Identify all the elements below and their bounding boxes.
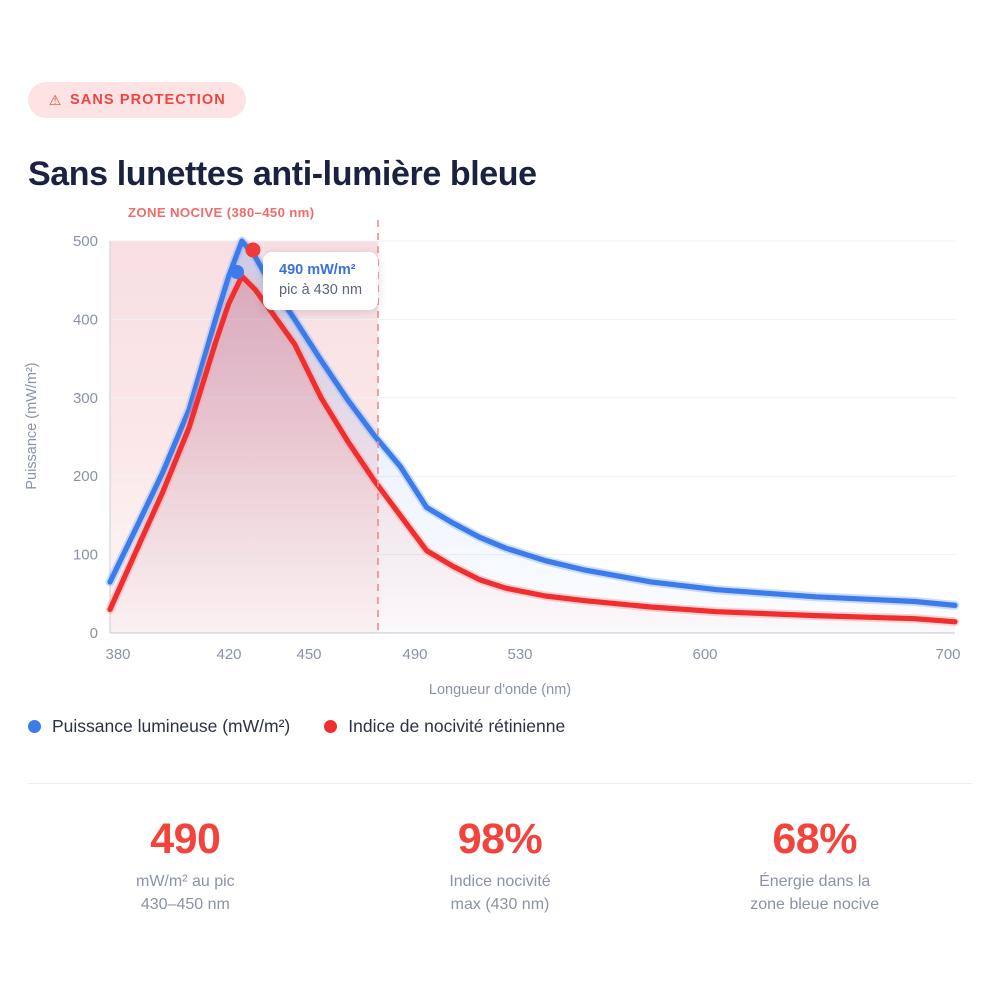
- legend-label-puissance: Puissance lumineuse (mW/m²): [52, 716, 290, 737]
- svg-text:700: 700: [935, 646, 960, 663]
- legend-dot-blue-icon: [28, 720, 41, 733]
- peak-marker-red: [246, 243, 261, 258]
- chart-canvas: 500 400 300 200 100 0 380 420 450 490 53…: [0, 196, 1000, 696]
- svg-text:300: 300: [73, 390, 98, 407]
- chart-legend: Puissance lumineuse (mW/m²) Indice de no…: [28, 716, 565, 737]
- spectrum-chart: 500 400 300 200 100 0 380 420 450 490 53…: [0, 196, 1000, 696]
- y-axis-title: Puissance (mW/m²): [24, 346, 40, 506]
- stat-label-peak-power: mW/m² au pic 430–450 nm: [28, 870, 343, 916]
- stat-peak-power: 490 mW/m² au pic 430–450 nm: [28, 812, 343, 916]
- svg-text:490: 490: [402, 646, 427, 663]
- legend-item-nocivite[interactable]: Indice de nocivité rétinienne: [324, 716, 565, 737]
- stat-label-blue-energy: Énergie dans la zone bleue nocive: [657, 870, 972, 916]
- svg-text:420: 420: [216, 646, 241, 663]
- status-badge-label: SANS PROTECTION: [70, 92, 226, 108]
- svg-text:100: 100: [73, 547, 98, 564]
- stat-blue-energy: 68% Énergie dans la zone bleue nocive: [657, 812, 972, 916]
- peak-marker-blue: [230, 265, 244, 279]
- stat-value-blue-energy: 68%: [657, 812, 972, 866]
- warning-triangle-icon: ⚠: [48, 93, 62, 107]
- svg-text:600: 600: [692, 646, 717, 663]
- callout-value: 490 mW/m²: [279, 261, 362, 280]
- harmful-zone-label: ZONE NOCIVE (380–450 nm): [128, 205, 315, 220]
- blue-light-comparison-card: ⚠ SANS PROTECTION Sans lunettes anti-lum…: [0, 0, 1000, 1000]
- legend-label-nocivite: Indice de nocivité rétinienne: [348, 716, 565, 737]
- svg-text:500: 500: [73, 233, 98, 250]
- svg-text:380: 380: [105, 646, 130, 663]
- stat-harm-index: 98% Indice nocivité max (430 nm): [343, 812, 658, 916]
- y-axis-tick-labels: 500 400 300 200 100 0: [73, 233, 98, 642]
- stat-label-harm-index: Indice nocivité max (430 nm): [343, 870, 658, 916]
- status-badge: ⚠ SANS PROTECTION: [28, 82, 246, 118]
- section-divider: [28, 783, 972, 784]
- peak-callout-tooltip: 490 mW/m² pic à 430 nm: [263, 252, 378, 310]
- legend-item-puissance[interactable]: Puissance lumineuse (mW/m²): [28, 716, 290, 737]
- legend-dot-red-icon: [324, 720, 337, 733]
- svg-text:200: 200: [73, 468, 98, 485]
- x-axis-title: Longueur d'onde (nm): [0, 682, 1000, 698]
- svg-text:400: 400: [73, 311, 98, 328]
- x-axis-tick-labels: 380 420 450 490 530 600 700: [105, 646, 960, 663]
- stats-row: 490 mW/m² au pic 430–450 nm 98% Indice n…: [28, 812, 972, 916]
- stat-value-peak-power: 490: [28, 812, 343, 866]
- svg-text:530: 530: [507, 646, 532, 663]
- page-title: Sans lunettes anti-lumière bleue: [28, 152, 537, 196]
- stat-value-harm-index: 98%: [343, 812, 658, 866]
- callout-subtitle: pic à 430 nm: [279, 280, 362, 300]
- svg-text:0: 0: [90, 625, 98, 642]
- svg-text:450: 450: [296, 646, 321, 663]
